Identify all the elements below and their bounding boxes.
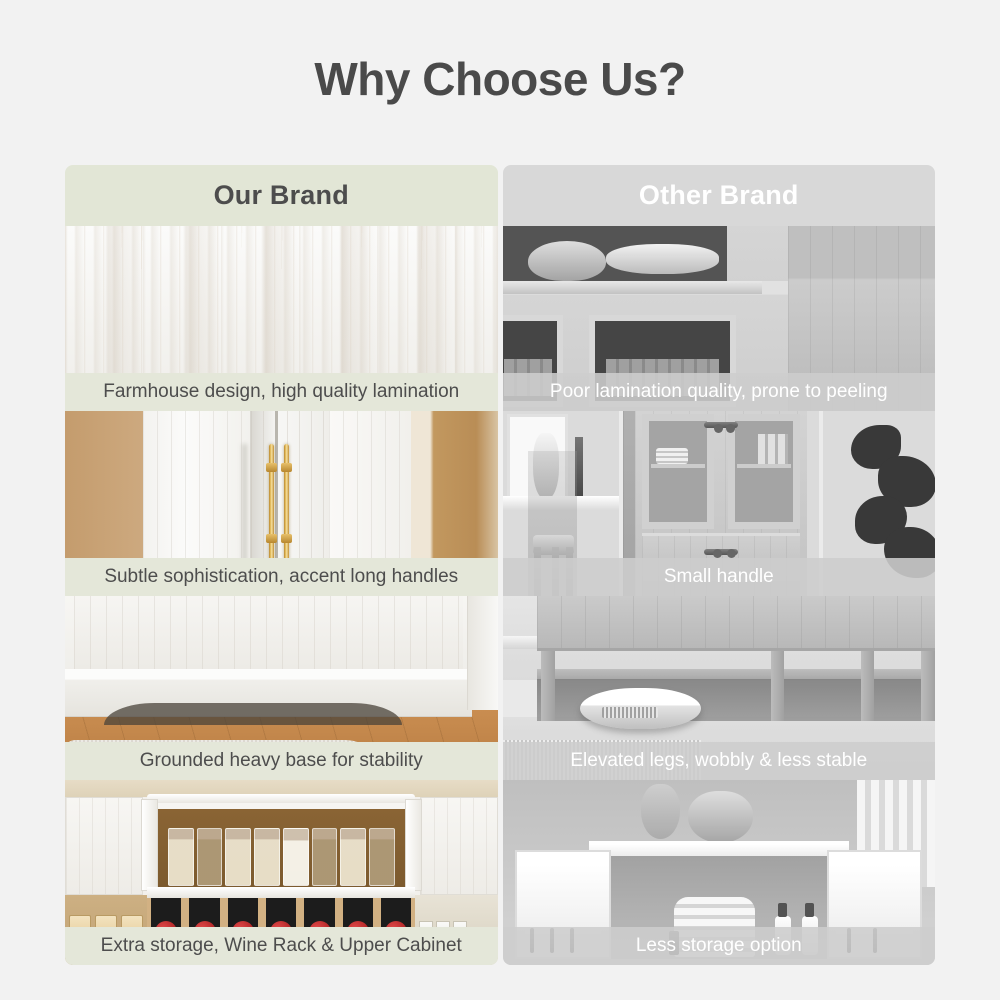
storage-jar — [283, 828, 309, 886]
column-other-brand: Other Brand — [503, 165, 936, 965]
our-brand-panel-base: Grounded heavy base for stability — [65, 596, 498, 781]
caption-other-lamination: Poor lamination quality, prone to peelin… — [503, 373, 936, 411]
decor-bowl — [528, 241, 606, 282]
storage-jar — [369, 828, 395, 886]
storage-jar — [168, 828, 194, 886]
caption-our-handles: Subtle sophistication, accent long handl… — [65, 558, 498, 596]
column-header-our-brand: Our Brand — [65, 165, 498, 226]
side-door-right — [420, 797, 498, 895]
storage-jar — [340, 828, 366, 886]
other-brand-panel-legs: Elevated legs, wobbly & less stable — [503, 596, 936, 781]
cabinet-body — [74, 596, 463, 677]
caption-other-legs: Elevated legs, wobbly & less stable — [503, 742, 936, 780]
caption-our-storage: Extra storage, Wine Rack & Upper Cabinet — [65, 927, 498, 965]
storage-jar — [312, 828, 338, 886]
cabinet-body — [537, 596, 935, 651]
comparison-columns: Our Brand Farmhouse design, high quality… — [65, 165, 935, 965]
gold-handle-left — [269, 444, 274, 562]
other-brand-panel-storage: Less storage option — [503, 780, 936, 965]
robot-vacuum-vent — [602, 707, 658, 718]
column-header-other-brand: Other Brand — [503, 165, 936, 226]
cabinet-top-rail — [147, 794, 415, 803]
cabinet-knob — [714, 424, 723, 433]
other-brand-panel-handle: Small handle — [503, 411, 936, 596]
door-shadow — [242, 444, 247, 562]
decor-plate — [606, 244, 718, 274]
cabinet-leg — [771, 651, 785, 721]
plinth-arch-cutout — [104, 703, 402, 725]
side-shelf — [467, 596, 497, 711]
caption-our-lamination: Farmhouse design, high quality laminatio… — [65, 373, 498, 411]
glass-vase-round — [688, 791, 753, 843]
cabinet-top — [589, 841, 849, 856]
glass-vase-tall — [641, 784, 680, 839]
books — [758, 434, 788, 464]
comparison-infographic: Why Choose Us? Our Brand Farmhouse desig… — [0, 0, 1000, 1000]
caption-other-storage: Less storage option — [503, 927, 936, 965]
our-brand-panel-storage: Extra storage, Wine Rack & Upper Cabinet — [65, 780, 498, 965]
storage-jar — [225, 828, 251, 886]
caption-other-handle: Small handle — [503, 558, 936, 596]
counter-shelf — [147, 887, 415, 898]
storage-jar — [197, 828, 223, 886]
other-brand-panel-lamination: Poor lamination quality, prone to peelin… — [503, 226, 936, 411]
our-brand-panel-lamination: Farmhouse design, high quality laminatio… — [65, 226, 498, 411]
glass-door-right — [728, 414, 800, 529]
jar-row — [168, 828, 395, 886]
page-title: Why Choose Us? — [0, 52, 1000, 106]
cabinet-knob — [726, 424, 735, 433]
cabinet-leg — [541, 651, 555, 721]
cabinet-leg — [861, 651, 875, 721]
cabinet-leg — [921, 651, 935, 721]
robot-vacuum — [580, 688, 701, 729]
upper-cabinet-interior — [158, 801, 405, 890]
caption-our-base: Grounded heavy base for stability — [65, 742, 498, 780]
cabinet-stretcher-rail — [537, 669, 935, 678]
side-door-left — [65, 797, 143, 895]
gold-handle-right — [284, 444, 289, 562]
glass-door-left — [642, 414, 714, 529]
open-door-right — [405, 799, 422, 891]
storage-jar — [254, 828, 280, 886]
our-brand-panel-handles: Subtle sophistication, accent long handl… — [65, 411, 498, 596]
our-brand-panels: Farmhouse design, high quality laminatio… — [65, 226, 498, 965]
open-door-left — [141, 799, 158, 891]
cabinet-top-rail — [503, 281, 763, 294]
stacked-dishes — [656, 448, 689, 464]
column-our-brand: Our Brand Farmhouse design, high quality… — [65, 165, 498, 965]
other-brand-panels: Poor lamination quality, prone to peelin… — [503, 226, 936, 965]
